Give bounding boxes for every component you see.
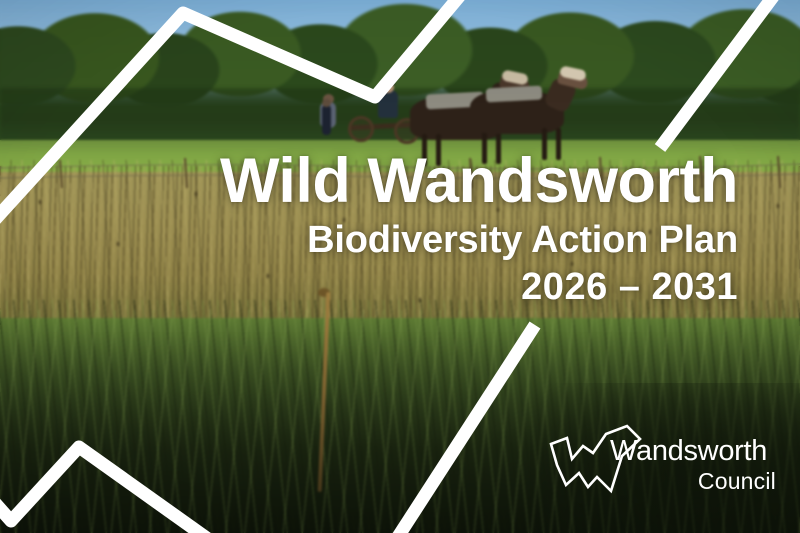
logo-wordmark: Wandsworth Council bbox=[610, 437, 778, 493]
report-cover: Wild Wandsworth Biodiversity Action Plan… bbox=[0, 0, 800, 533]
page-subtitle: Biodiversity Action Plan bbox=[220, 217, 738, 263]
cover-title-block: Wild Wandsworth Biodiversity Action Plan… bbox=[220, 150, 738, 311]
wandsworth-council-logo[interactable]: Wandsworth Council bbox=[548, 413, 778, 509]
logo-descriptor: Council bbox=[610, 469, 778, 493]
page-title: Wild Wandsworth bbox=[220, 150, 738, 213]
plan-period: 2026 – 2031 bbox=[220, 265, 738, 311]
logo-organisation-name: Wandsworth bbox=[610, 437, 778, 466]
